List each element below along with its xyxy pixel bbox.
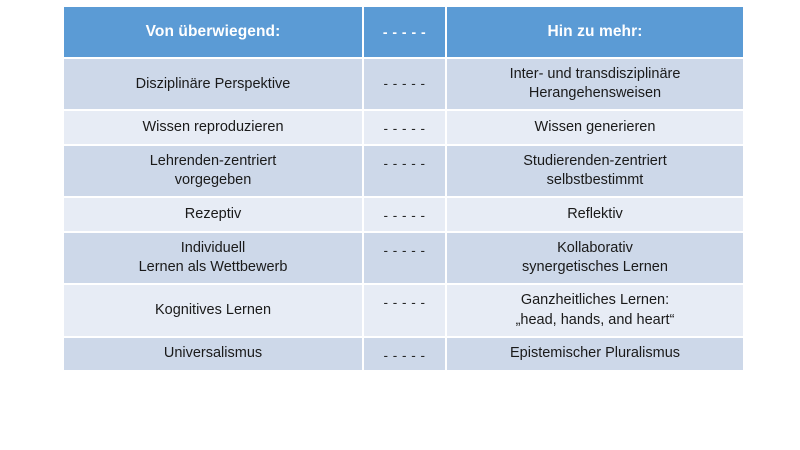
cell-line: selbstbestimmt [455, 171, 735, 190]
cell-separator: - - - - - [364, 338, 445, 371]
table-header-row: Von überwiegend: - - - - - Hin zu mehr: [64, 7, 743, 57]
cell-separator: - - - - - [364, 233, 445, 283]
cell-to: Reflektiv [447, 198, 743, 231]
cell-separator: - - - - - [364, 59, 445, 109]
table-row: Universalismus - - - - - Epistemischer P… [64, 338, 743, 371]
table-row: Wissen reproduzieren - - - - - Wissen ge… [64, 111, 743, 144]
cell-from: Kognitives Lernen [64, 285, 362, 335]
cell-line: Wissen reproduzieren [72, 118, 354, 137]
cell-line: Rezeptiv [72, 205, 354, 224]
cell-line: Reflektiv [455, 205, 735, 224]
cell-line: Studierenden-zentriert [455, 152, 735, 171]
cell-line: Individuell [72, 239, 354, 258]
cell-to: Studierenden-zentriert selbstbestimmt [447, 146, 743, 196]
cell-to: Wissen generieren [447, 111, 743, 144]
cell-line: synergetisches Lernen [455, 258, 735, 277]
cell-from: Universalismus [64, 338, 362, 371]
column-header-from: Von überwiegend: [64, 7, 362, 57]
column-header-separator: - - - - - [364, 7, 445, 57]
cell-from: Rezeptiv [64, 198, 362, 231]
cell-separator: - - - - - [364, 198, 445, 231]
table-row: Lehrenden-zentriert vorgegeben - - - - -… [64, 146, 743, 196]
cell-to: Epistemischer Pluralismus [447, 338, 743, 371]
cell-line: vorgegeben [72, 171, 354, 190]
cell-line: Disziplinäre Perspektive [72, 75, 354, 94]
cell-line: „head, hands, and heart“ [455, 311, 735, 330]
cell-from: Disziplinäre Perspektive [64, 59, 362, 109]
table-row: Disziplinäre Perspektive - - - - - Inter… [64, 59, 743, 109]
table-row: Rezeptiv - - - - - Reflektiv [64, 198, 743, 231]
comparison-table-container: Von überwiegend: - - - - - Hin zu mehr: … [62, 5, 743, 435]
cell-line: Kognitives Lernen [72, 301, 354, 320]
cell-from: Wissen reproduzieren [64, 111, 362, 144]
cell-line: Lernen als Wettbewerb [72, 258, 354, 277]
table-row: Individuell Lernen als Wettbewerb - - - … [64, 233, 743, 283]
cell-from: Individuell Lernen als Wettbewerb [64, 233, 362, 283]
cell-line: Universalismus [72, 344, 354, 363]
cell-line: Lehrenden-zentriert [72, 152, 354, 171]
cell-line: Epistemischer Pluralismus [455, 344, 735, 363]
cell-to: Inter- und transdisziplinäre Herangehens… [447, 59, 743, 109]
cell-line: Kollaborativ [455, 239, 735, 258]
cell-to: Ganzheitliches Lernen: „head, hands, and… [447, 285, 743, 335]
table-header: Von überwiegend: - - - - - Hin zu mehr: [64, 7, 743, 57]
cell-separator: - - - - - [364, 111, 445, 144]
cell-line: Herangehensweisen [455, 84, 735, 103]
column-header-to: Hin zu mehr: [447, 7, 743, 57]
cell-from: Lehrenden-zentriert vorgegeben [64, 146, 362, 196]
cell-separator: - - - - - [364, 146, 445, 196]
table-row: Kognitives Lernen - - - - - Ganzheitlich… [64, 285, 743, 335]
cell-line: Ganzheitliches Lernen: [455, 291, 735, 310]
comparison-table: Von überwiegend: - - - - - Hin zu mehr: … [62, 5, 745, 372]
cell-line: Wissen generieren [455, 118, 735, 137]
cell-line: Inter- und transdisziplinäre [455, 65, 735, 84]
cell-to: Kollaborativ synergetisches Lernen [447, 233, 743, 283]
table-body: Disziplinäre Perspektive - - - - - Inter… [64, 59, 743, 370]
cell-separator: - - - - - [364, 285, 445, 335]
slide-canvas: Von überwiegend: - - - - - Hin zu mehr: … [0, 0, 800, 450]
